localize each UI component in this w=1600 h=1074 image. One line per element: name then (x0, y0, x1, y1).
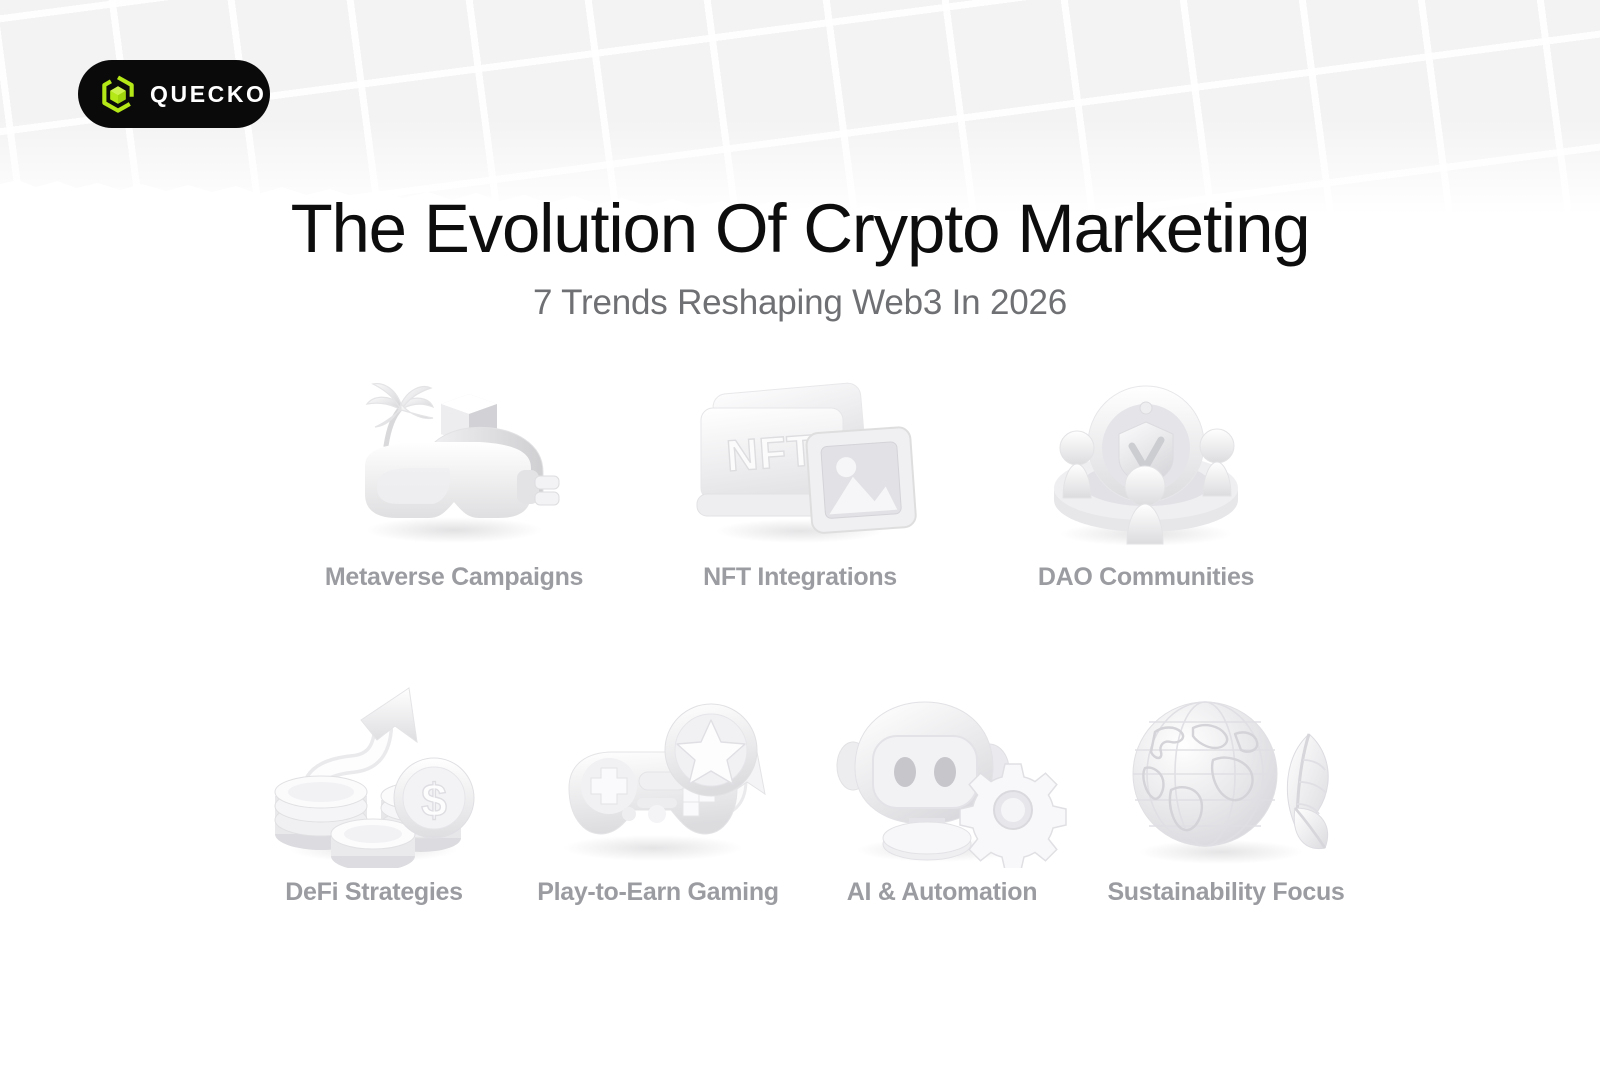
svg-text:$: $ (421, 774, 447, 826)
trend-item-defi[interactable]: $ DeFi Strategies (249, 668, 499, 907)
globe-leaf-icon (1101, 668, 1351, 868)
vr-headset-icon (329, 368, 579, 553)
page-subtitle: 7 Trends Reshaping Web3 In 2026 (0, 283, 1600, 323)
dao-shield-people-icon (1021, 368, 1271, 553)
trend-item-play-to-earn[interactable]: Play-to-Earn Gaming (533, 668, 783, 907)
page-title: The Evolution Of Crypto Marketing (0, 192, 1600, 267)
svg-text:NFT: NFT (725, 426, 817, 481)
trend-label: Sustainability Focus (1107, 878, 1344, 907)
brand-logo[interactable]: QUECKO (78, 60, 270, 128)
trend-item-nft[interactable]: NFT NFT Integrations (675, 368, 925, 592)
trend-label: Play-to-Earn Gaming (537, 878, 779, 907)
trend-label: Metaverse Campaigns (325, 563, 583, 592)
brand-logo-text: QUECKO (150, 83, 267, 106)
trend-item-metaverse[interactable]: Metaverse Campaigns (329, 368, 579, 592)
infographic-canvas: QUECKO The Evolution Of Crypto Marketing… (0, 0, 1600, 1074)
trends-row-2: $ DeFi Strategies (0, 668, 1600, 907)
hexagon-cube-icon (99, 75, 137, 113)
trend-label: NFT Integrations (703, 563, 897, 592)
trend-label: AI & Automation (847, 878, 1037, 907)
coins-growth-arrow-icon: $ (249, 668, 499, 868)
gamepad-star-coin-icon (533, 668, 783, 868)
trend-item-sustainability[interactable]: Sustainability Focus (1101, 668, 1351, 907)
trend-item-dao[interactable]: DAO Communities (1021, 368, 1271, 592)
trend-item-ai-automation[interactable]: AI & Automation (817, 668, 1067, 907)
trends-row-1: Metaverse Campaigns (0, 368, 1600, 592)
nft-cards-icon: NFT (675, 368, 925, 553)
trend-label: DAO Communities (1038, 563, 1254, 592)
trend-label: DeFi Strategies (285, 878, 463, 907)
robot-gear-icon (817, 668, 1067, 868)
